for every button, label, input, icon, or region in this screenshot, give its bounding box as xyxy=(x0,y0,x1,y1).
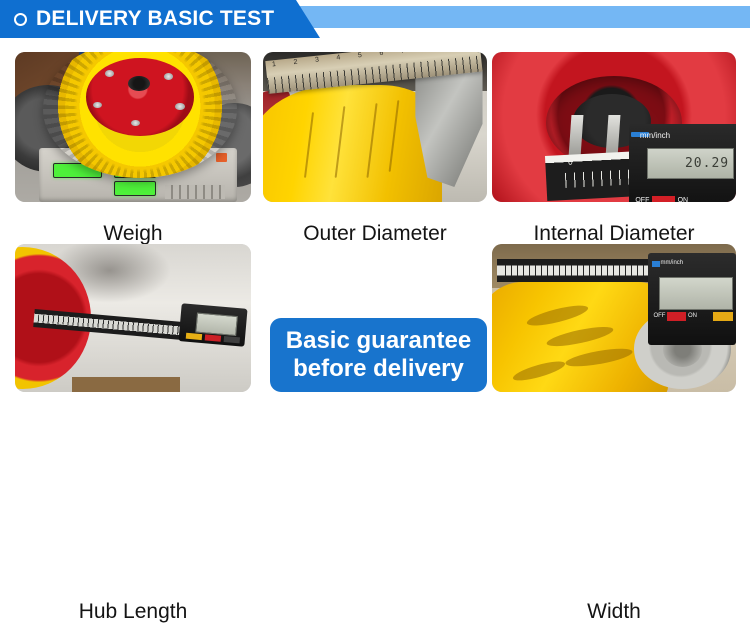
photo-weigh xyxy=(15,52,251,202)
page-header-banner: DELIVERY BASIC TEST xyxy=(0,0,750,40)
page-title: DELIVERY BASIC TEST xyxy=(14,0,274,38)
caliper-display: 20.29 xyxy=(647,148,735,180)
digital-caliper-head xyxy=(179,303,248,347)
caliper-off-label: OFF xyxy=(653,313,665,319)
promo-banner: Basic guarantee before delivery xyxy=(270,318,487,392)
caliper-unit-label: mm/inch xyxy=(660,260,683,266)
caliper-unit-button xyxy=(652,261,660,267)
caption-internal-diameter: Internal Diameter xyxy=(492,222,736,246)
cell-outer-diameter[interactable]: 1 2 3 4 5 6 7 8 9 10 Outer Diameter xyxy=(263,52,487,202)
photo-width: mm/inch OFF ON xyxy=(492,244,736,392)
ruler-number: 1 xyxy=(272,61,277,68)
cell-weigh[interactable]: Weigh xyxy=(15,52,251,202)
caliper-display xyxy=(659,277,733,310)
page-title-text: DELIVERY BASIC TEST xyxy=(36,7,274,31)
photo-outer-diameter: 1 2 3 4 5 6 7 8 9 10 xyxy=(263,52,487,202)
ruler-number: 7 xyxy=(401,52,406,55)
cell-hub-length[interactable]: Hub Length xyxy=(15,244,251,392)
cell-width[interactable]: mm/inch OFF ON Width xyxy=(492,244,736,392)
caliper-zero-button xyxy=(713,312,732,321)
ruler-number: 2 xyxy=(294,59,299,66)
caliper-button-dark xyxy=(223,336,240,344)
ruler-number: 6 xyxy=(380,52,385,57)
ruler-number: 3 xyxy=(315,57,320,64)
caliper-on-label: ON xyxy=(688,313,697,319)
caption-weigh: Weigh xyxy=(15,222,251,246)
caliper-on-label: ON xyxy=(678,197,689,202)
ruler-number: 5 xyxy=(358,52,363,59)
caliper-display xyxy=(195,313,238,336)
caliper-switch-slider xyxy=(652,196,674,202)
scale-display-total xyxy=(114,181,156,197)
circle-outline-icon xyxy=(14,13,27,26)
caliper-scale-number: 0 xyxy=(568,157,573,166)
caliper-button-red xyxy=(204,335,221,343)
digital-caliper-head: mm/inch 20.29 OFF ON xyxy=(629,124,736,202)
photo-hub-length xyxy=(15,244,251,392)
cell-internal-diameter[interactable]: 0 10 20 mm/inch 20.29 OFF ON Internal Di… xyxy=(492,52,736,202)
promo-line-1: Basic guarantee xyxy=(286,327,471,355)
caption-width: Width xyxy=(492,600,736,624)
caliper-off-label: OFF xyxy=(635,197,649,202)
caption-hub-length: Hub Length xyxy=(15,600,251,624)
photo-internal-diameter: 0 10 20 mm/inch 20.29 OFF ON xyxy=(492,52,736,202)
ruler-number: 4 xyxy=(337,55,342,62)
ruler-number: 8 xyxy=(423,52,428,53)
digital-caliper-head: mm/inch OFF ON xyxy=(648,253,736,345)
caliper-power-switch: OFF ON xyxy=(635,195,736,202)
caption-outer-diameter: Outer Diameter xyxy=(263,222,487,246)
caliper-switch-slider xyxy=(667,312,686,321)
caliper-button-yellow xyxy=(185,333,202,341)
test-photo-grid: Weigh 1 2 3 4 5 6 7 xyxy=(0,40,750,433)
caliper-unit-label: mm/inch xyxy=(640,131,670,140)
promo-line-2: before delivery xyxy=(293,355,464,383)
